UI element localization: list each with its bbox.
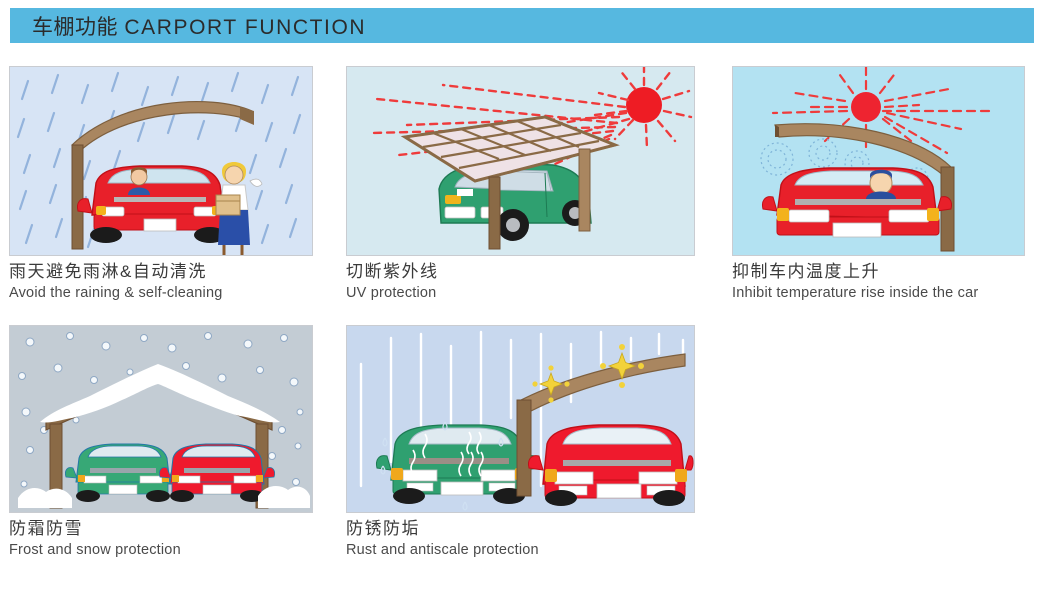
caption-cn: 抑制车内温度上升 [732,262,978,282]
carport-function-page: 车棚功能 CARPORT FUNCTION [0,0,1043,593]
feature-image-rust-scale-protection [346,325,695,513]
feature-caption-rust-scale-protection: 防锈防垢 Rust and antiscale protection [346,519,539,559]
caption-en: Inhibit temperature rise inside the car [732,284,978,302]
caption-cn: 切断紫外线 [346,262,439,282]
caption-en: Frost and snow protection [9,541,181,559]
page-header-bar: 车棚功能 CARPORT FUNCTION [10,8,1034,43]
feature-card-frost-snow-protection: 防霜防雪 Frost and snow protection [9,325,313,513]
page-title-cn: 车棚功能 [32,16,118,39]
page-title-en: CARPORT FUNCTION [124,16,366,39]
feature-image-temperature-protection [732,66,1025,256]
caption-en: Rust and antiscale protection [346,541,539,559]
caption-cn: 防锈防垢 [346,519,539,539]
scene-uv [347,67,694,255]
scene-rain [10,67,312,255]
page-title: 车棚功能 CARPORT FUNCTION [32,11,366,41]
feature-caption-uv-protection: 切断紫外线 UV protection [346,262,439,302]
caption-cn: 防霜防雪 [9,519,181,539]
car-red-front [159,444,274,502]
caption-en: Avoid the raining & self-cleaning [9,284,223,302]
scene-temperature [733,67,1024,255]
feature-card-temperature-protection: 抑制车内温度上升 Inhibit temperature rise inside… [732,66,1025,256]
feature-image-frost-snow-protection [9,325,313,513]
feature-image-uv-protection [346,66,695,256]
scene-snow [10,326,312,512]
car-red-front [762,168,951,237]
feature-card-uv-protection: 切断紫外线 UV protection [346,66,695,256]
feature-card-rust-scale-protection: 防锈防垢 Rust and antiscale protection [346,325,695,513]
feature-caption-temperature-protection: 抑制车内温度上升 Inhibit temperature rise inside… [732,262,978,302]
feature-caption-rain-protection: 雨天避免雨淋&自动清洗 Avoid the raining & self-cle… [9,262,223,302]
feature-card-rain-protection: 雨天避免雨淋&自动清洗 Avoid the raining & self-cle… [9,66,313,256]
sun-icon [626,87,662,123]
caption-en: UV protection [346,284,439,302]
feature-image-rain-protection [9,66,313,256]
feature-caption-frost-snow-protection: 防霜防雪 Frost and snow protection [9,519,181,559]
car-red-clean [528,425,693,506]
scene-rust [347,326,694,512]
caption-cn: 雨天避免雨淋&自动清洗 [9,262,223,282]
